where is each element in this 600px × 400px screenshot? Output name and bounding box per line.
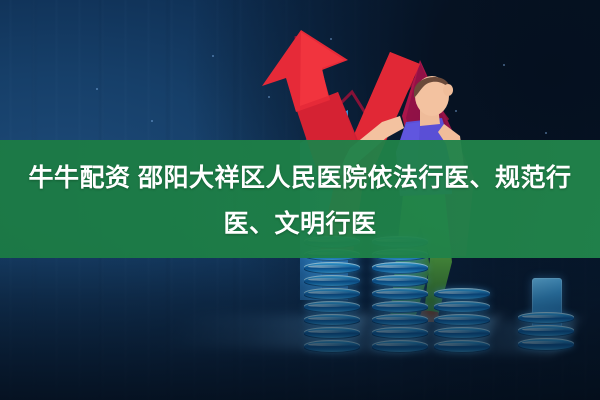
banner-text-line-1: 牛牛配资 邵阳大祥区人民医院依法行医、规范行 bbox=[0, 156, 600, 200]
banner-text-line-2: 医、文明行医 bbox=[0, 202, 600, 246]
banner-image: 牛牛配资 邵阳大祥区人民医院依法行医、规范行 医、文明行医 bbox=[0, 0, 600, 400]
figure-ear bbox=[443, 84, 453, 96]
